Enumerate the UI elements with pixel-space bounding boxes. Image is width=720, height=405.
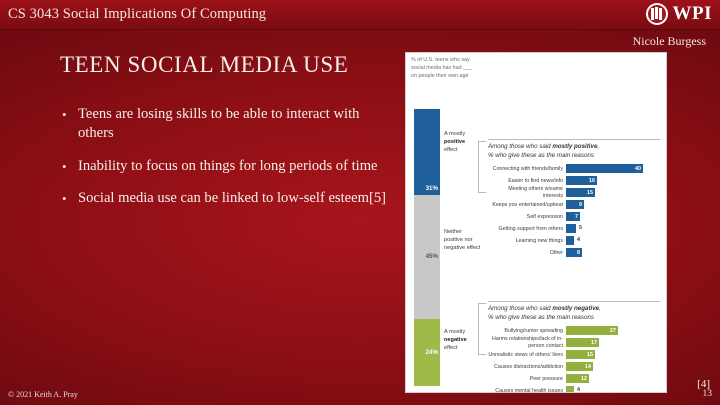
list-item: • Social media use can be linked to low-…	[60, 189, 390, 208]
row-value: 27	[610, 328, 618, 334]
table-row: Harms relationships/lack of in-person co…	[488, 337, 660, 348]
bullet-marker-icon: •	[62, 158, 67, 175]
stack-caption-line: Neither	[444, 229, 462, 235]
row-bar-wrap: 12	[566, 374, 660, 383]
row-bar-wrap: 15	[566, 350, 660, 359]
row-value: 16	[589, 178, 597, 184]
stack-caption-negative: A mostly negative effect	[444, 329, 482, 352]
row-value: 8	[577, 250, 582, 256]
stack-caption-neutral: Neither positive nor negative effect	[444, 229, 482, 252]
stack-caption-line: negative effect	[444, 245, 480, 251]
panel-title-emphasis: mostly negative	[552, 305, 599, 312]
slide: CS 3043 Social Implications Of Computing…	[0, 0, 720, 405]
wpi-logo: WPI	[646, 3, 713, 25]
row-bar-wrap: 9	[566, 200, 660, 209]
row-bar-wrap: 17	[566, 338, 660, 347]
table-row: Unrealistic views of others' lives 15	[488, 349, 660, 360]
stack-caption-emphasis: positive	[444, 139, 465, 145]
stack-caption-emphasis: positive nor	[444, 237, 473, 243]
stacked-bar-overview: 31% 45% 24%	[414, 109, 440, 386]
bullet-marker-icon: •	[62, 190, 67, 207]
row-label: Peer pressure	[488, 376, 566, 383]
row-label: Bullying/rumor spreading	[488, 328, 566, 335]
row-label: Other	[488, 250, 566, 257]
table-row: Connecting with friends/family 40	[488, 163, 660, 174]
row-bar: 16	[566, 176, 597, 185]
row-bar: 14	[566, 362, 593, 371]
row-bar	[566, 236, 574, 245]
row-bar-wrap: 4	[566, 236, 660, 245]
list-item-text: Teens are losing skills to be able to in…	[78, 106, 359, 141]
panel-negative-title: Among those who said mostly negative, % …	[488, 301, 660, 322]
list-item: • Inability to focus on things for long …	[60, 157, 390, 176]
bullet-list: • Teens are losing skills to be able to …	[60, 105, 390, 221]
stack-caption-line: effect	[444, 147, 458, 153]
copyright-notice: © 2021 Keith A. Pray	[8, 390, 78, 399]
wpi-logo-text: WPI	[673, 3, 713, 25]
row-bar-wrap: 14	[566, 362, 660, 371]
stack-caption-positive: A mostly positive effect	[444, 131, 482, 154]
panel-title-sub: % who give these as the main reasons	[488, 152, 660, 161]
list-item: • Teens are losing skills to be able to …	[60, 105, 390, 144]
row-label: Self expression	[488, 214, 566, 221]
stack-caption-line: A mostly	[444, 131, 465, 137]
table-row: Getting support from others 5	[488, 223, 660, 234]
row-bar: 8	[566, 248, 582, 257]
row-bar-wrap: 4	[566, 386, 660, 393]
row-bar-wrap: 40	[566, 164, 660, 173]
row-label: Easier to find news/info	[488, 178, 566, 185]
table-row: Causes mental health issues 4	[488, 385, 660, 393]
panel-positive-reasons: Among those who said mostly positive, % …	[488, 139, 660, 259]
row-label: Meeting others w/same interests	[488, 186, 566, 199]
row-bar-wrap: 16	[566, 176, 660, 185]
stack-segment-value: 45%	[426, 253, 438, 260]
row-value: 4	[575, 387, 580, 393]
table-row: Self expression 7	[488, 211, 660, 222]
figure-social-media-effects: % of U.S. teens who say social media has…	[405, 52, 667, 393]
row-value: 9	[579, 202, 584, 208]
table-row: Bullying/rumor spreading 27	[488, 325, 660, 336]
table-row: Other 8	[488, 247, 660, 258]
row-bar: 40	[566, 164, 643, 173]
row-label: Unrealistic views of others' lives	[488, 352, 566, 359]
row-value: 15	[587, 352, 595, 358]
row-value: 5	[577, 225, 582, 231]
bullet-marker-icon: •	[62, 106, 67, 123]
row-bar: 27	[566, 326, 618, 335]
page-title: TEEN SOCIAL MEDIA USE	[60, 52, 348, 78]
connector-line-positive	[478, 141, 486, 193]
table-row: Meeting others w/same interests 15	[488, 187, 660, 198]
row-value: 12	[581, 376, 589, 382]
row-label: Getting support from others	[488, 226, 566, 233]
panel-title-emphasis: mostly positive	[552, 143, 597, 150]
row-value: 4	[575, 237, 580, 243]
row-bar: 15	[566, 188, 595, 197]
row-bar: 17	[566, 338, 599, 347]
stack-segment-negative: 24%	[414, 319, 440, 386]
table-row: Causes distractions/addiction 14	[488, 361, 660, 372]
list-item-text: Inability to focus on things for long pe…	[78, 158, 378, 174]
row-bar	[566, 386, 574, 393]
panel-title-lead: Among those who said	[488, 305, 551, 312]
course-title: CS 3043 Social Implications Of Computing	[8, 6, 266, 23]
row-label: Keeps you entertained/upbeat	[488, 202, 566, 209]
table-row: Learning new things 4	[488, 235, 660, 246]
stack-segment-neutral: 45%	[414, 195, 440, 319]
connector-line-negative	[478, 303, 486, 355]
row-value: 14	[585, 364, 593, 370]
list-item-text: Social media use can be linked to low-se…	[78, 190, 386, 206]
row-label: Learning new things	[488, 238, 566, 245]
row-bar-wrap: 27	[566, 326, 660, 335]
row-bar-wrap: 7	[566, 212, 660, 221]
wpi-seal-icon	[646, 3, 668, 25]
row-bar-wrap: 8	[566, 248, 660, 257]
row-bar: 7	[566, 212, 580, 221]
stack-segment-positive: 31%	[414, 109, 440, 195]
panel-negative-reasons: Among those who said mostly negative, % …	[488, 301, 660, 393]
stack-caption-emphasis: negative	[444, 337, 467, 343]
row-label: Harms relationships/lack of in-person co…	[488, 336, 566, 349]
row-bar: 12	[566, 374, 589, 383]
row-value: 17	[591, 340, 599, 346]
stack-caption-line: effect	[444, 345, 458, 351]
presenter-name: Nicole Burgess	[633, 34, 706, 49]
row-label: Connecting with friends/family	[488, 166, 566, 173]
row-bar-wrap: 5	[566, 224, 660, 233]
panel-positive-title: Among those who said mostly positive, % …	[488, 139, 660, 160]
row-bar-wrap: 15	[566, 188, 660, 197]
row-value: 15	[587, 190, 595, 196]
row-bar: 15	[566, 350, 595, 359]
row-label: Causes mental health issues	[488, 388, 566, 393]
table-row: Easier to find news/info 16	[488, 175, 660, 186]
stack-segment-value: 31%	[426, 185, 438, 192]
panel-title-sub: % who give these as the main reasons	[488, 314, 660, 323]
figure-note: % of U.S. teens who say social media has…	[411, 57, 473, 80]
row-value: 7	[575, 214, 580, 220]
row-bar: 9	[566, 200, 584, 209]
stack-segment-value: 24%	[426, 349, 438, 356]
panel-title-lead: Among those who said	[488, 143, 551, 150]
stack-caption-line: A mostly	[444, 329, 465, 335]
row-bar	[566, 224, 576, 233]
row-value: 40	[635, 166, 643, 172]
row-label: Causes distractions/addiction	[488, 364, 566, 371]
table-row: Peer pressure 12	[488, 373, 660, 384]
page-number: 13	[703, 389, 713, 399]
table-row: Keeps you entertained/upbeat 9	[488, 199, 660, 210]
